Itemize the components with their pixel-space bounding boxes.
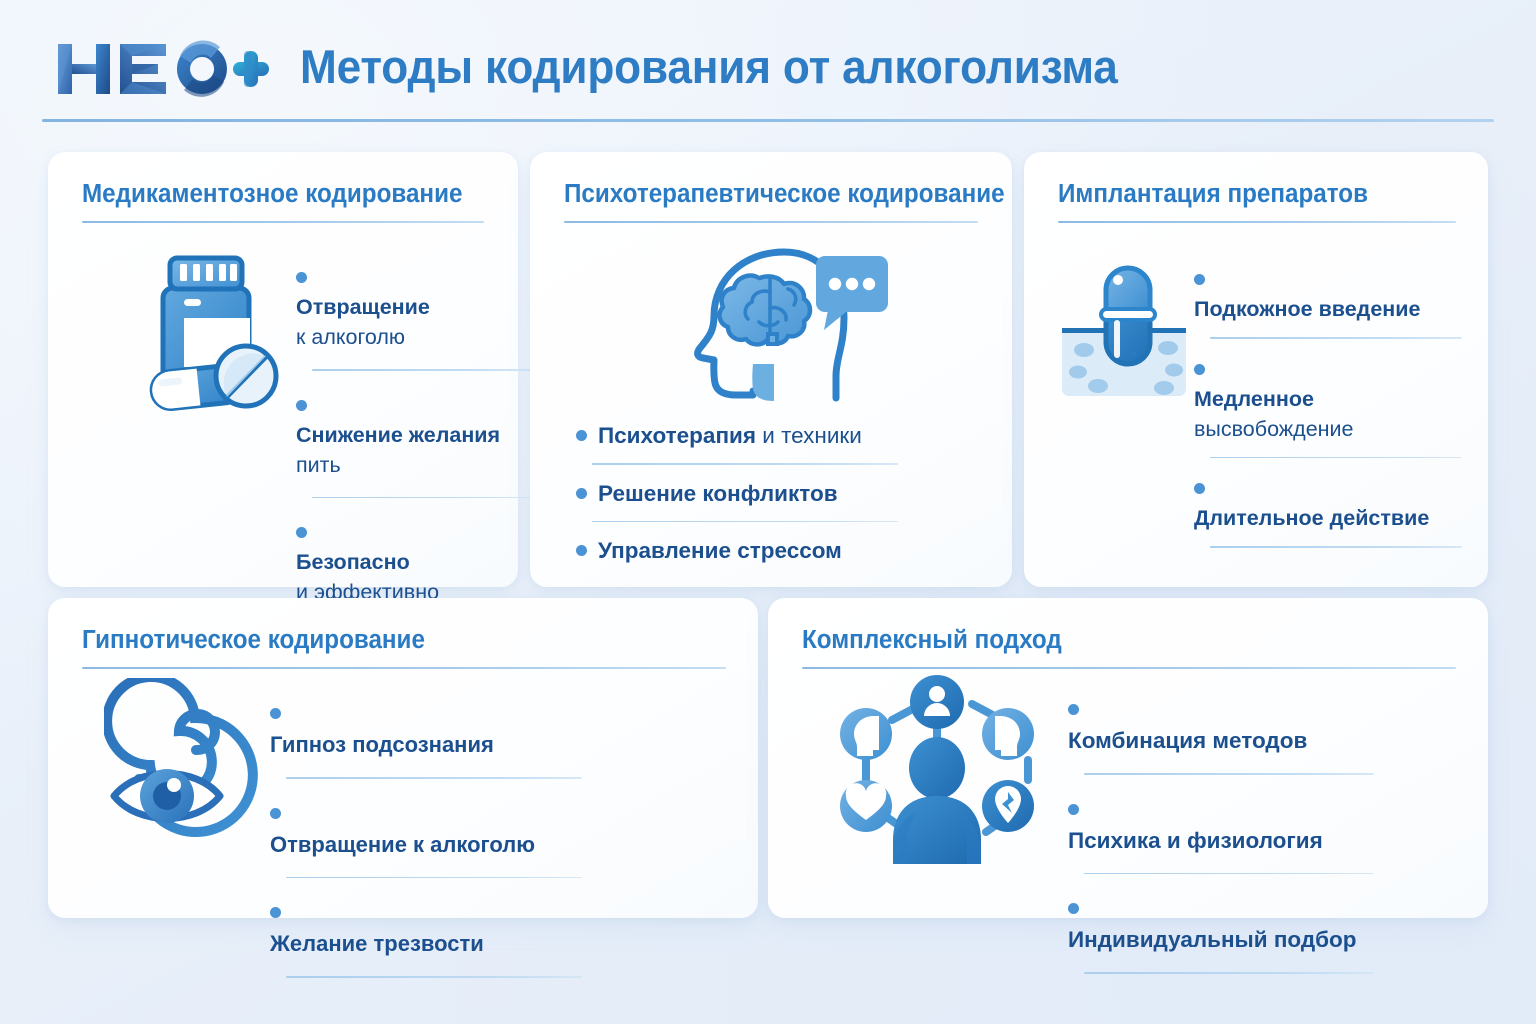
list-item[interactable]: Безопасно и эффективно [296, 517, 534, 607]
list-item[interactable]: Психика и физиология [1068, 794, 1374, 856]
person-network-icon [830, 672, 1044, 873]
list-separator [1084, 773, 1374, 775]
list-item-label: Длительное действие [1194, 476, 1462, 533]
list-item-label: Комбинация методов [1068, 697, 1374, 756]
list-item[interactable]: Длительное действие [1194, 473, 1462, 533]
list-item[interactable]: Снижение желания пить [296, 390, 534, 480]
list-item-label: Желание трезвости [270, 900, 590, 959]
card-psihoterapevticheskoe-kodirovanie[interactable]: Психотерапевтическое кодирование [530, 152, 1012, 587]
bullet-list: Гипноз подсознания Отвращение к алкоголю… [270, 698, 590, 997]
list-item[interactable]: Комбинация методов [1068, 694, 1374, 756]
bullet-dot-icon [1194, 274, 1205, 285]
list-item-label: Отвращение к алкоголю [296, 265, 534, 352]
bullet-dot-icon [1068, 704, 1079, 715]
list-separator [1210, 457, 1462, 459]
card-medikamentoznoe-kodirovanie[interactable]: Медикаментозное кодирование [48, 152, 518, 587]
capsule-implant-icon [1056, 250, 1192, 411]
card-title-divider [82, 221, 484, 223]
list-separator [1084, 873, 1374, 875]
list-item[interactable]: Гипноз подсознания [270, 698, 590, 760]
card-title: Психотерапевтическое кодирование [564, 178, 1005, 210]
bullet-dot-icon [576, 430, 587, 441]
bullet-dot-icon [576, 488, 587, 499]
card-implantaciya-preparatov[interactable]: Имплантация препаратов [1024, 152, 1488, 587]
bullet-list: Психотерапия и техники Решение конфликто… [576, 420, 898, 566]
bullet-list: Подкожное введение Медленное высвобожден… [1194, 264, 1462, 563]
bullet-dot-icon [1068, 804, 1079, 815]
list-item[interactable]: Подкожное введение [1194, 264, 1462, 324]
list-item-label: Медленное высвобождение [1194, 357, 1462, 444]
card-title-divider [82, 667, 726, 669]
list-item[interactable]: Медленное высвобождение [1194, 354, 1462, 444]
list-item-label: Индивидуальный подбор [1068, 896, 1374, 955]
list-item[interactable]: Отвращение к алкоголю [270, 798, 590, 860]
list-item-label: Психотерапия и техники [576, 423, 862, 448]
card-kompleksnyy-podhod[interactable]: Комплексный подход [768, 598, 1488, 918]
card-title: Гипнотическое кодирование [82, 624, 425, 656]
bullet-dot-icon [296, 400, 307, 411]
page-header: Методы кодирования от алкоголизма [42, 30, 1494, 130]
list-separator [286, 976, 582, 978]
list-separator [592, 463, 898, 465]
page-title: Методы кодирования от алкоголизма [300, 36, 1118, 98]
spiral-eye-icon [104, 678, 274, 843]
card-title-divider [564, 221, 978, 223]
card-title: Комплексный подход [802, 624, 1062, 656]
list-separator [286, 877, 582, 879]
list-item-label: Безопасно и эффективно [296, 520, 534, 607]
list-item[interactable]: Отвращение к алкоголю [296, 262, 534, 352]
bullet-list: Отвращение к алкоголю Снижение желания п… [296, 262, 534, 607]
list-separator [312, 497, 534, 499]
card-title: Имплантация препаратов [1058, 178, 1368, 210]
list-item-label: Решение конфликтов [576, 481, 838, 506]
bullet-list: Комбинация методов Психика и физиология … [1068, 694, 1374, 993]
list-item-label: Управление стрессом [576, 538, 842, 563]
list-item[interactable]: Управление стрессом [576, 535, 898, 566]
list-separator [1210, 546, 1462, 548]
bullet-dot-icon [270, 808, 281, 819]
card-title-divider [1058, 221, 1456, 223]
card-title: Медикаментозное кодирование [82, 178, 462, 210]
header-divider [42, 119, 1494, 122]
list-item-label: Подкожное введение [1194, 267, 1462, 324]
list-item[interactable]: Решение конфликтов [576, 478, 898, 509]
list-item[interactable]: Индивидуальный подбор [1068, 893, 1374, 955]
head-brain-speech-icon [658, 244, 890, 411]
card-title-divider [802, 667, 1456, 669]
bullet-dot-icon [1194, 364, 1205, 375]
pill-bottle-icon [126, 252, 286, 422]
bullet-dot-icon [270, 708, 281, 719]
bullet-dot-icon [296, 272, 307, 283]
list-separator [1084, 972, 1374, 974]
list-item-label: Отвращение к алкоголю [270, 801, 590, 860]
list-item-label: Снижение желания пить [296, 393, 534, 480]
list-item[interactable]: Психотерапия и техники [576, 420, 898, 451]
list-item-label: Психика и физиология [1068, 797, 1374, 856]
neo-plus-logo[interactable] [54, 38, 272, 100]
list-item-label: Гипноз подсознания [270, 701, 590, 760]
list-item[interactable]: Желание трезвости [270, 897, 590, 959]
list-separator [286, 777, 582, 779]
list-separator [592, 521, 898, 523]
list-separator [312, 369, 534, 371]
card-gipnoticheskoe-kodirovanie[interactable]: Гипнотическое кодирование Ги [48, 598, 758, 918]
list-separator [1210, 337, 1462, 339]
